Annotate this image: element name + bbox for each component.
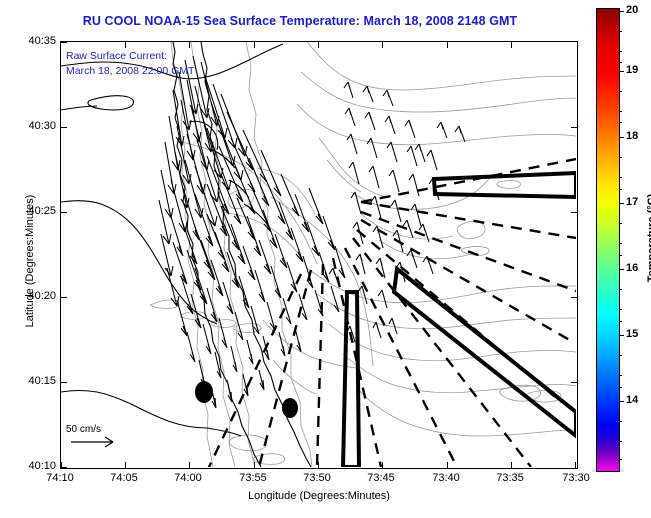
cb-minor-8 [619,177,622,178]
cb-label-14: 14 [626,394,638,406]
cb-tick-18 [619,137,624,138]
colorbar[interactable] [596,8,620,472]
cb-minor-20 [619,441,622,442]
x-tick-label-6: 73:40 [432,472,460,484]
cb-minor-16 [619,355,622,356]
x-tick-label-2: 74:00 [174,472,202,484]
y-tick-5 [61,467,67,468]
x-tick-top-3 [254,42,255,48]
figure-title: RU COOL NOAA-15 Sea Surface Temperature:… [0,14,600,28]
cb-minor-5 [619,111,622,112]
map-graphics [61,42,576,467]
y-tick-4 [61,382,67,383]
x-tick-label-0: 74:10 [46,472,74,484]
x-tick-8 [575,462,576,468]
velocity-scale-label: 50 cm/s [66,424,101,435]
cb-minor-17 [619,375,622,376]
x-tick-2 [189,462,190,468]
current-vector-group [159,56,465,408]
y-tick-label-4: 40:15 [28,375,56,387]
radar-station-markers [195,381,298,418]
x-tick-top-1 [125,42,126,48]
cb-tick-17 [619,203,624,204]
y-tick-right-1 [571,127,577,128]
y-tick-right-4 [571,382,577,383]
cb-minor-13 [619,289,622,290]
cb-label-16: 16 [626,262,638,274]
cb-tick-20 [619,11,624,12]
x-tick-top-5 [382,42,383,48]
x-tick-label-3: 73:55 [239,472,267,484]
y-tick-label-1: 40:30 [28,120,56,132]
cb-label-18: 18 [626,130,638,142]
velocity-scale-legend: 50 cm/s [66,424,101,435]
x-tick-5 [382,462,383,468]
cb-minor-21 [619,459,622,460]
y-axis-title: Latitude (Degrees:Minutes) [24,151,36,371]
cb-minor-7 [619,157,622,158]
cb-tick-14 [619,401,624,402]
x-tick-label-4: 73:50 [303,472,331,484]
y-tick-label-0: 40:35 [28,35,56,47]
cb-minor-18 [619,387,622,388]
cb-tick-16 [619,269,624,270]
cb-tick-15 [619,335,624,336]
y-tick-3 [61,297,67,298]
y-tick-1 [61,127,67,128]
x-tick-3 [254,462,255,468]
cb-tick-19 [619,71,624,72]
x-tick-top-4 [318,42,319,48]
cb-minor-11 [619,243,622,244]
cb-minor-15 [619,321,622,322]
x-tick-4 [318,462,319,468]
x-tick-top-7 [511,42,512,48]
cb-minor-2 [619,51,622,52]
cb-label-15: 15 [626,328,638,340]
x-tick-label-5: 73:45 [367,472,395,484]
colorbar-title: Temperature (°C) [646,158,651,318]
x-tick-top-6 [447,42,448,48]
radial-beam-group [209,159,576,467]
y-tick-right-2 [571,212,577,213]
x-tick-label-8: 73:30 [562,472,590,484]
y-tick-right-3 [571,297,577,298]
cb-minor-10 [619,223,622,224]
x-axis-title: Longitude (Degrees:Minutes) [60,490,578,502]
cb-label-20: 20 [626,4,638,16]
cb-minor-1 [619,31,622,32]
radar-sector-group [343,173,576,467]
cb-label-19: 19 [626,64,638,76]
x-tick-label-1: 74:05 [110,472,138,484]
cb-minor-12 [619,255,622,256]
y-tick-2 [61,212,67,213]
cb-minor-9 [619,189,622,190]
x-tick-label-7: 73:35 [496,472,524,484]
scale-reference-arrow [71,437,113,447]
y-tick-0 [61,42,67,43]
sst-current-map-figure: RU COOL NOAA-15 Sea Surface Temperature:… [0,0,651,518]
cb-minor-14 [619,309,622,310]
x-tick-7 [511,462,512,468]
cb-minor-3 [619,62,622,63]
cb-minor-6 [619,122,622,123]
y-tick-label-5: 40:10 [28,460,56,472]
cb-minor-4 [619,91,622,92]
x-tick-top-2 [189,42,190,48]
cb-minor-19 [619,421,622,422]
cb-label-17: 17 [626,196,638,208]
x-tick-1 [125,462,126,468]
x-tick-6 [447,462,448,468]
plot-area[interactable]: Raw Surface Current: March 18, 2008 22:0… [60,41,578,469]
